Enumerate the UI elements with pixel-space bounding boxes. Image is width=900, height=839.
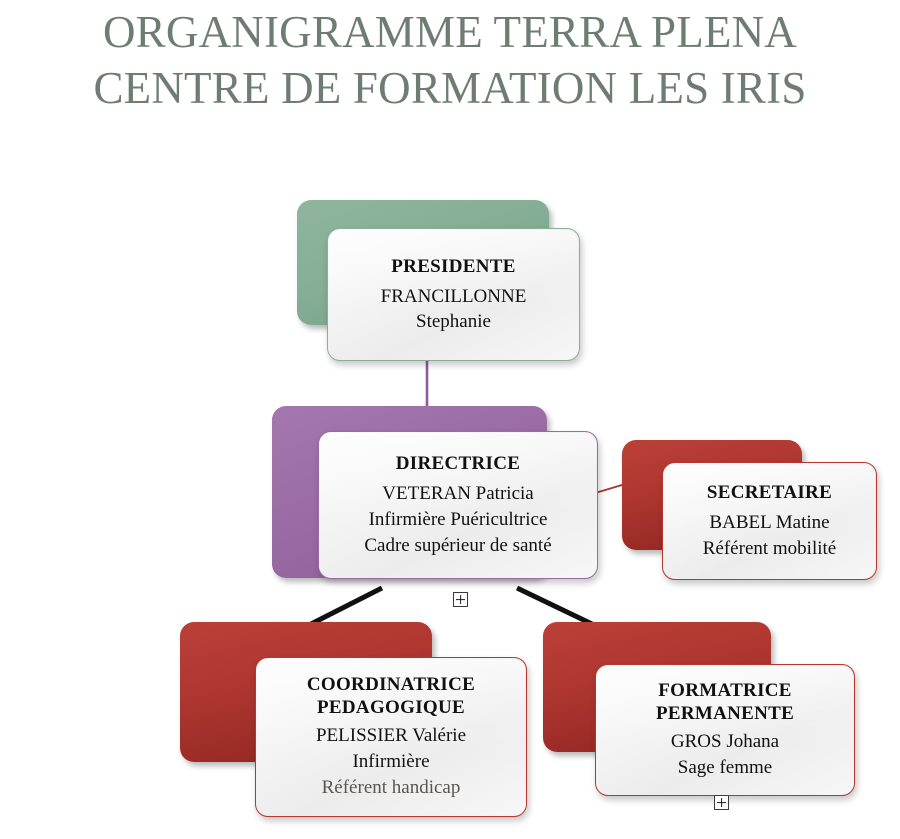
expand-formatrice-button[interactable]: [714, 795, 729, 810]
org-chart-canvas: ORGANIGRAMME TERRA PLENA CENTRE DE FORMA…: [0, 0, 900, 839]
node-directrice-grade: Cadre supérieur de santé: [329, 533, 587, 559]
node-presidente-name: FRANCILLONNE: [338, 284, 569, 310]
node-formatrice-role-line-1: FORMATRICE: [604, 679, 846, 702]
node-formatrice[interactable]: FORMATRICE PERMANENTE GROS Johana Sage f…: [543, 622, 873, 802]
node-formatrice-role-line-2: PERMANENTE: [604, 702, 846, 725]
node-coordinatrice-card[interactable]: COORDINATRICE PEDAGOGIQUE PELISSIER Valé…: [255, 657, 527, 817]
node-directrice[interactable]: DIRECTRICE VETERAN Patricia Infirmière P…: [272, 406, 607, 586]
node-directrice-name: VETERAN Patricia: [329, 481, 587, 507]
page-title-line-2: CENTRE DE FORMATION LES IRIS: [0, 60, 900, 116]
node-coordinatrice-name: PELISSIER Valérie: [264, 723, 518, 749]
node-presidente-role: PRESIDENTE: [338, 255, 569, 278]
node-secretaire-card[interactable]: SECRETAIRE BABEL Matine Référent mobilit…: [662, 462, 877, 580]
node-coordinatrice-qualification: Infirmière: [264, 749, 518, 775]
node-formatrice-name: GROS Johana: [604, 729, 846, 755]
expand-directrice-button[interactable]: [453, 592, 468, 607]
page-title: ORGANIGRAMME TERRA PLENA CENTRE DE FORMA…: [0, 4, 900, 116]
node-coordinatrice-role-line-2: PEDAGOGIQUE: [264, 696, 518, 719]
node-presidente[interactable]: PRESIDENTE FRANCILLONNE Stephanie: [297, 200, 587, 365]
node-formatrice-card[interactable]: FORMATRICE PERMANENTE GROS Johana Sage f…: [595, 664, 855, 796]
node-presidente-card[interactable]: PRESIDENTE FRANCILLONNE Stephanie: [327, 228, 580, 361]
node-secretaire[interactable]: SECRETAIRE BABEL Matine Référent mobilit…: [622, 440, 882, 590]
connector-directrice-coordinatrice: [311, 588, 382, 624]
node-directrice-role: DIRECTRICE: [329, 452, 587, 475]
node-coordinatrice[interactable]: COORDINATRICE PEDAGOGIQUE PELISSIER Valé…: [180, 622, 532, 822]
node-secretaire-mission: Référent mobilité: [671, 536, 868, 562]
page-title-line-1: ORGANIGRAMME TERRA PLENA: [0, 4, 900, 60]
node-presidente-firstname: Stephanie: [338, 310, 569, 334]
node-directrice-qualification: Infirmière Puéricultrice: [329, 507, 587, 533]
node-coordinatrice-mission: Référent handicap: [264, 775, 518, 801]
node-secretaire-name: BABEL Matine: [671, 510, 868, 536]
node-directrice-card[interactable]: DIRECTRICE VETERAN Patricia Infirmière P…: [318, 431, 598, 579]
connector-directrice-formatrice: [517, 588, 592, 624]
node-coordinatrice-role-line-1: COORDINATRICE: [264, 673, 518, 696]
node-secretaire-role: SECRETAIRE: [671, 481, 868, 504]
node-formatrice-qualification: Sage femme: [604, 755, 846, 781]
